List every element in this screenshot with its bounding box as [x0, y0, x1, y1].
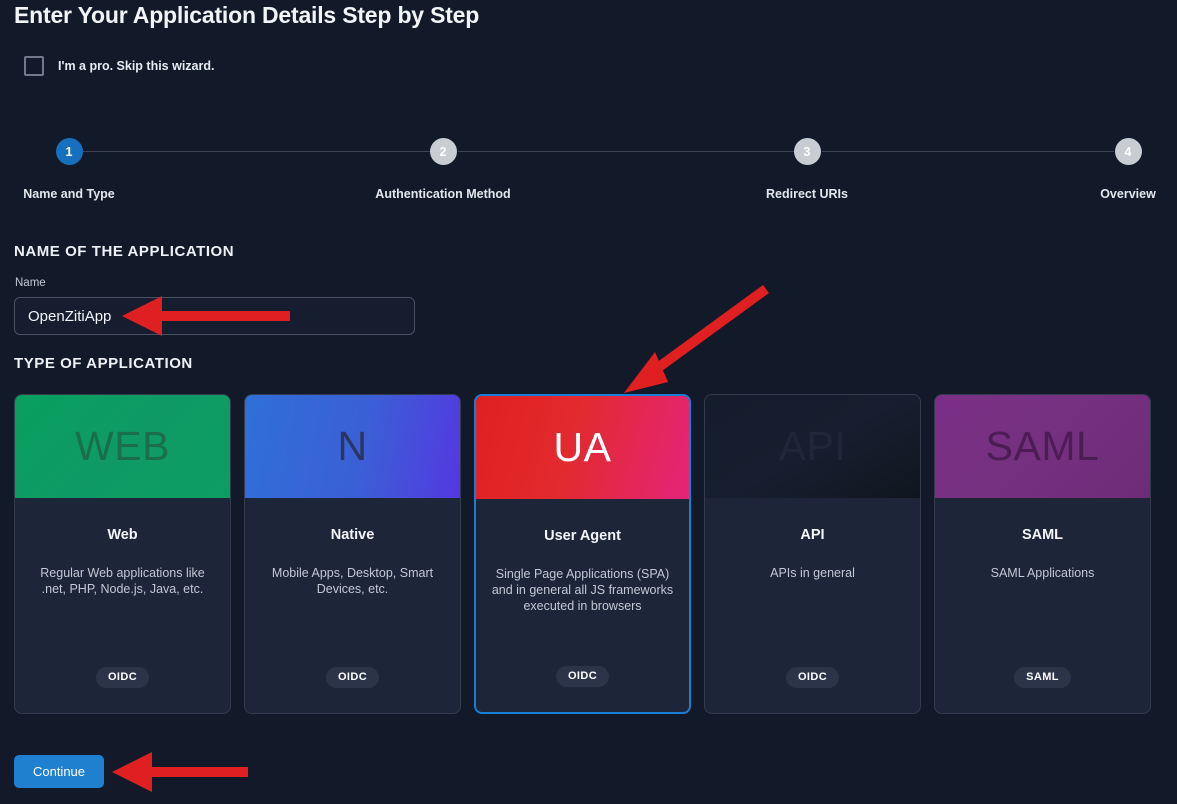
api-badge-wrap: OIDC	[705, 667, 920, 688]
user-agent-protocol-badge: OIDC	[556, 666, 609, 687]
user-agent-card-body: User Agent Single Page Applications (SPA…	[476, 499, 689, 712]
app-type-card-web[interactable]: WEB Web Regular Web applications like .n…	[14, 394, 231, 714]
stepper-step-1[interactable]: 1 Name and Type	[0, 138, 139, 201]
saml-protocol-badge: SAML	[1014, 667, 1071, 688]
stepper-step-4-label: Overview	[1058, 187, 1177, 201]
saml-card-title: SAML	[948, 527, 1137, 543]
stepper-connector-3-4	[822, 151, 1114, 152]
skip-wizard-label: I'm a pro. Skip this wizard.	[58, 59, 214, 73]
stepper-step-3-number: 3	[794, 138, 821, 165]
web-card-title: Web	[28, 527, 217, 543]
native-banner: N	[245, 395, 460, 498]
type-section-heading: TYPE OF APPLICATION	[14, 355, 193, 372]
api-banner: API	[705, 395, 920, 498]
web-protocol-badge: OIDC	[96, 667, 149, 688]
saml-card-body: SAML SAML Applications SAML	[935, 498, 1150, 713]
saml-badge-wrap: SAML	[935, 667, 1150, 688]
skip-wizard-row[interactable]: I'm a pro. Skip this wizard.	[24, 56, 214, 76]
stepper-step-2-number: 2	[430, 138, 457, 165]
stepper-step-1-label: Name and Type	[0, 187, 139, 201]
api-card-title: API	[718, 527, 907, 543]
web-card-description: Regular Web applications like .net, PHP,…	[28, 565, 217, 597]
web-card-body: Web Regular Web applications like .net, …	[15, 498, 230, 713]
stepper-step-1-number: 1	[56, 138, 83, 165]
arrow-to-continue-button	[112, 752, 248, 792]
saml-banner: SAML	[935, 395, 1150, 498]
stepper-step-2[interactable]: 2 Authentication Method	[373, 138, 513, 201]
native-protocol-badge: OIDC	[326, 667, 379, 688]
user-agent-card-description: Single Page Applications (SPA) and in ge…	[489, 566, 676, 614]
stepper-connector-1-2	[82, 151, 430, 152]
native-card-body: Native Mobile Apps, Desktop, Smart Devic…	[245, 498, 460, 713]
stepper-step-4-number: 4	[1115, 138, 1142, 165]
native-badge-wrap: OIDC	[245, 667, 460, 688]
wizard-stepper: 1 Name and Type 2 Authentication Method …	[0, 138, 1177, 208]
continue-button[interactable]: Continue	[14, 755, 104, 788]
name-section-heading: NAME OF THE APPLICATION	[14, 243, 234, 260]
application-name-input[interactable]	[14, 297, 415, 335]
application-type-cards: WEB Web Regular Web applications like .n…	[14, 394, 1163, 714]
user-agent-badge-wrap: OIDC	[476, 666, 689, 687]
native-card-description: Mobile Apps, Desktop, Smart Devices, etc…	[258, 565, 447, 597]
app-type-card-native[interactable]: N Native Mobile Apps, Desktop, Smart Dev…	[244, 394, 461, 714]
user-agent-banner: UA	[476, 396, 689, 499]
stepper-step-4[interactable]: 4 Overview	[1058, 138, 1177, 201]
web-badge-wrap: OIDC	[15, 667, 230, 688]
app-type-card-api[interactable]: API API APIs in general OIDC	[704, 394, 921, 714]
api-card-description: APIs in general	[718, 565, 907, 581]
web-banner: WEB	[15, 395, 230, 498]
api-card-body: API APIs in general OIDC	[705, 498, 920, 713]
stepper-step-3-label: Redirect URIs	[737, 187, 877, 201]
api-protocol-badge: OIDC	[786, 667, 839, 688]
stepper-connector-2-3	[458, 151, 794, 152]
app-type-card-user-agent[interactable]: UA User Agent Single Page Applications (…	[474, 394, 691, 714]
stepper-step-3[interactable]: 3 Redirect URIs	[737, 138, 877, 201]
app-type-card-saml[interactable]: SAML SAML SAML Applications SAML	[934, 394, 1151, 714]
name-field-label: Name	[15, 277, 46, 289]
user-agent-card-title: User Agent	[489, 528, 676, 544]
arrow-to-user-agent-card	[624, 289, 766, 393]
native-card-title: Native	[258, 527, 447, 543]
page-title: Enter Your Application Details Step by S…	[14, 2, 479, 29]
saml-card-description: SAML Applications	[948, 565, 1137, 581]
stepper-step-2-label: Authentication Method	[373, 187, 513, 201]
wizard-page: Enter Your Application Details Step by S…	[0, 0, 1177, 804]
skip-wizard-checkbox[interactable]	[24, 56, 44, 76]
